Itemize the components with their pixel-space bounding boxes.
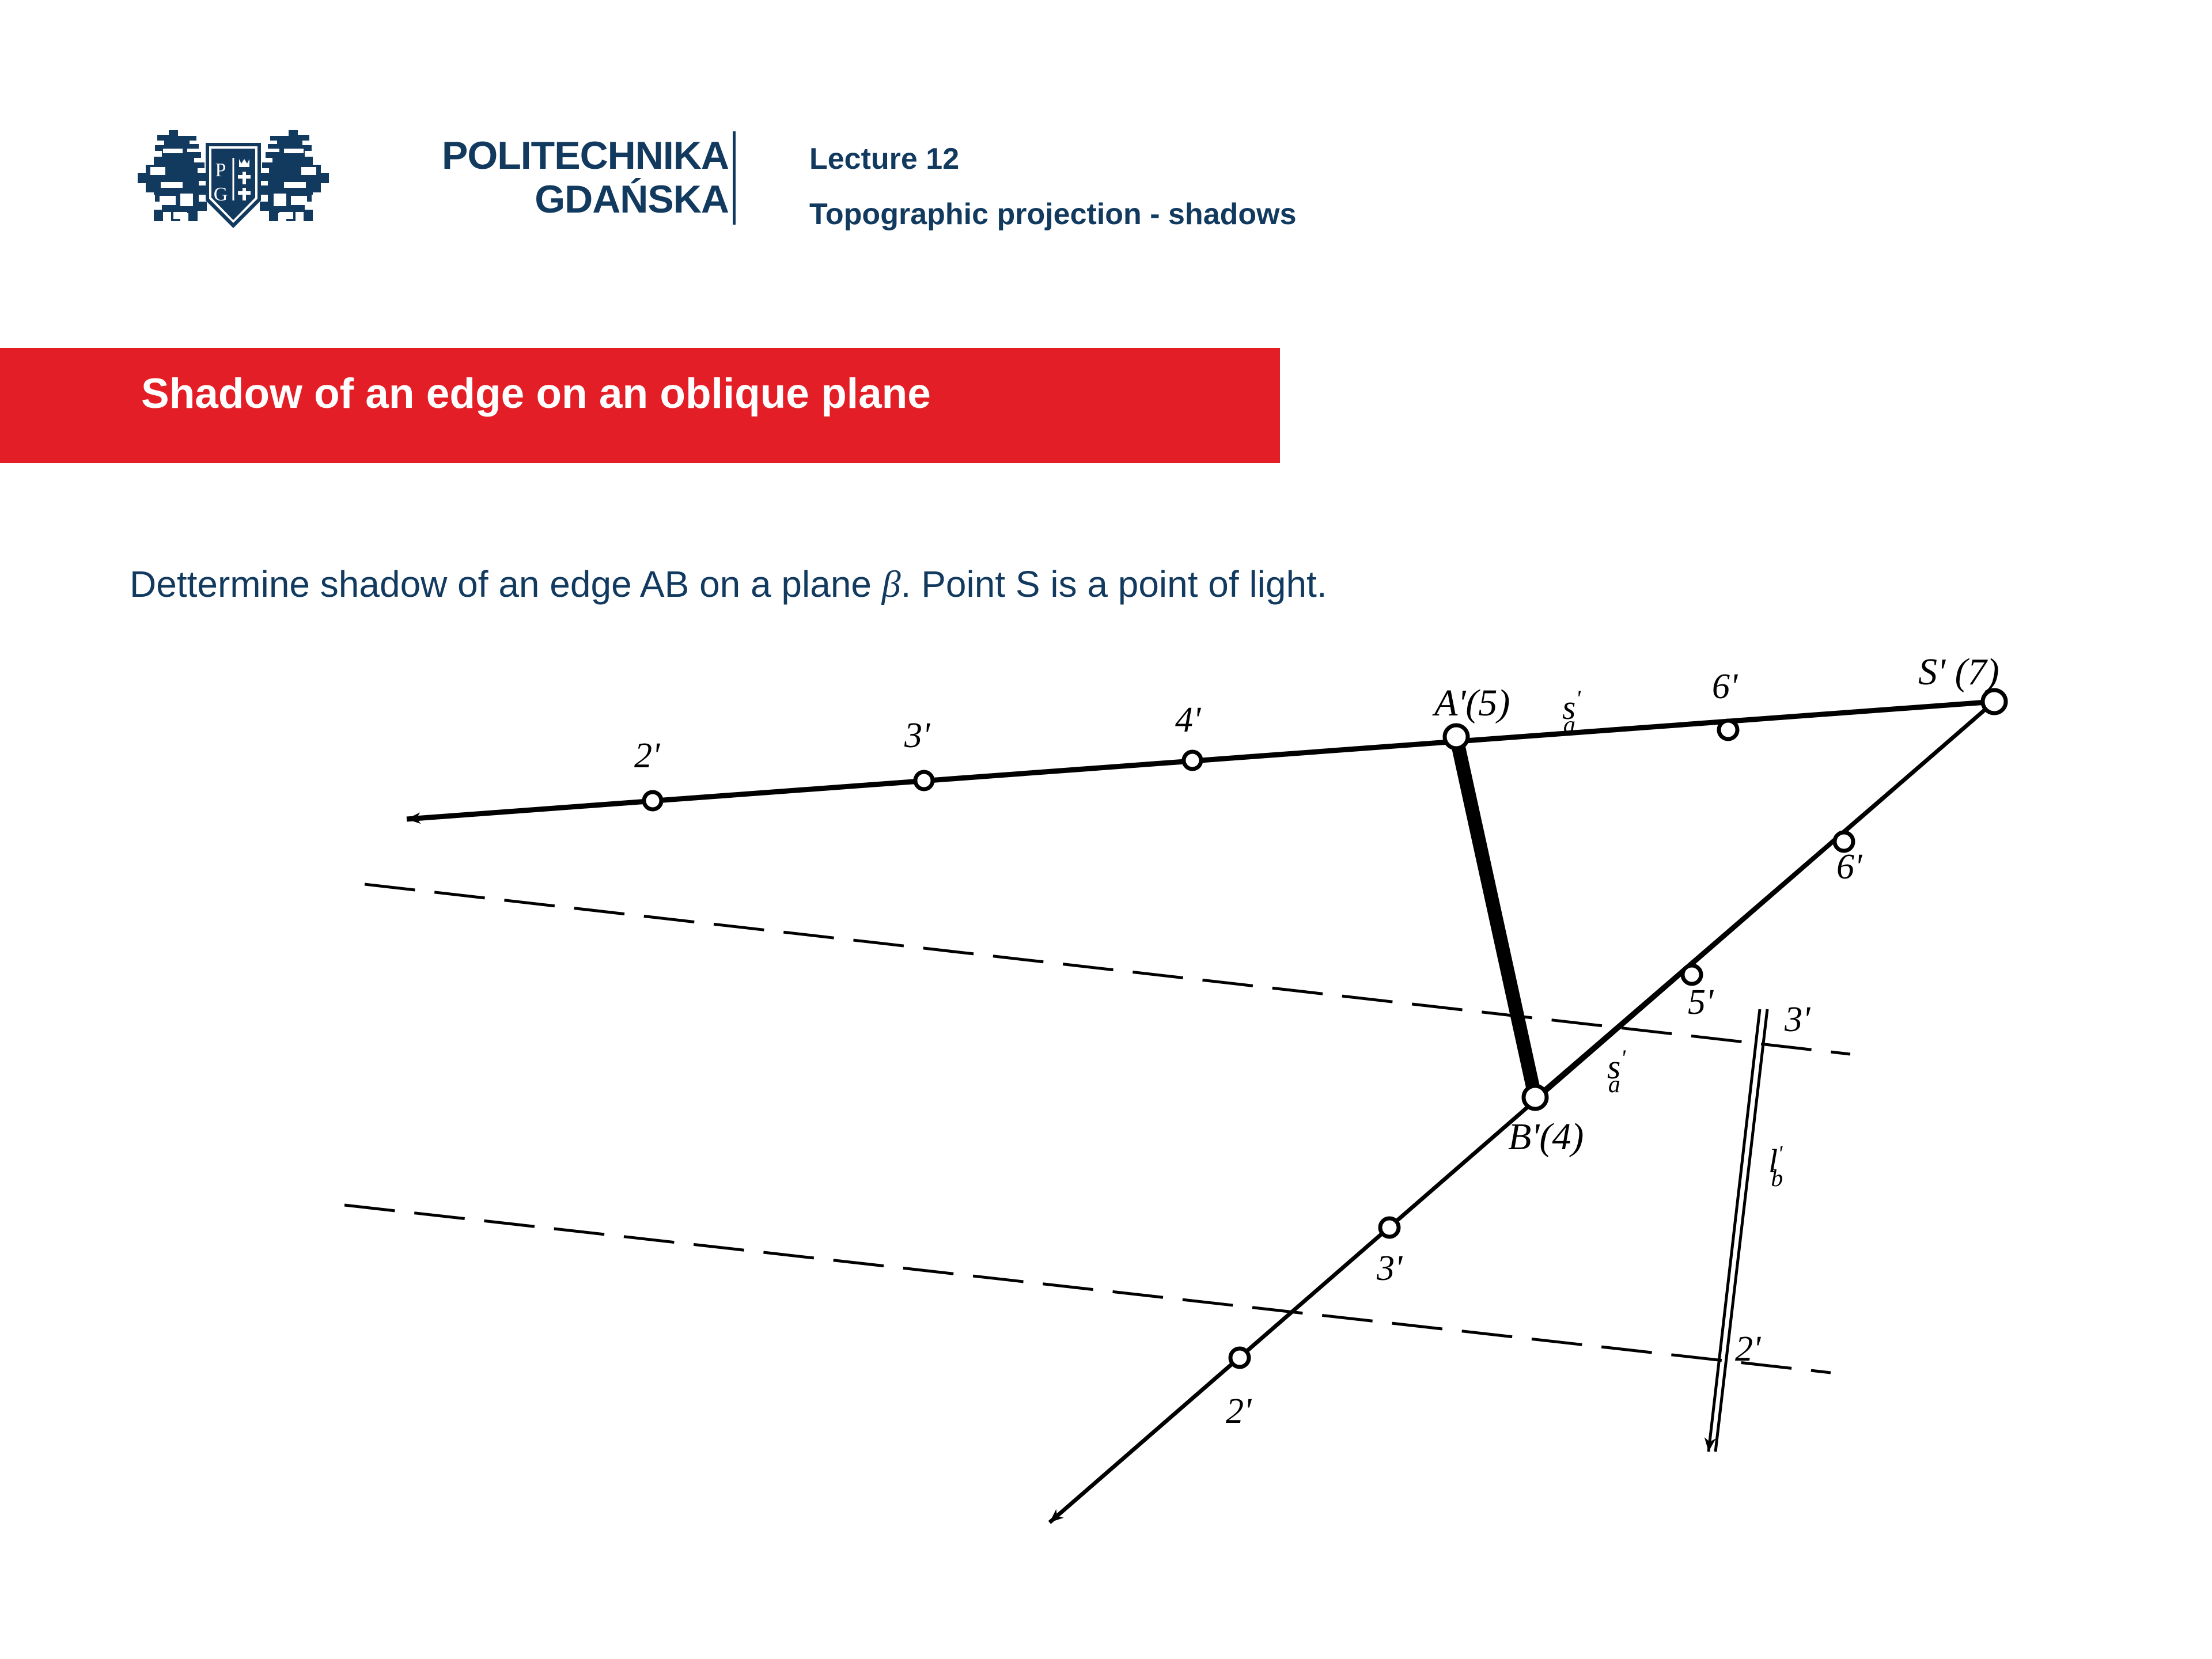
marker-3-prime-horizon	[915, 772, 933, 789]
label-point-b: B'(4)	[1508, 1116, 1584, 1158]
label-point-a: A'(5)	[1432, 682, 1510, 724]
marker-6-prime-horizon	[1719, 721, 1737, 739]
marker-4-prime-horizon	[1184, 752, 1201, 769]
marker-point-b	[1524, 1086, 1547, 1109]
marker-2-prime-diagonal	[1230, 1349, 1249, 1367]
label-2-prime-horizon: 2'	[634, 736, 661, 775]
dashed-level-line-lower	[344, 1205, 1831, 1373]
edge-ab-thick	[1456, 737, 1535, 1097]
topographic-projection-drawing: 2' 3' 4' A'(5) s'a 6' S' (7) 6' 5' 3' s'…	[0, 0, 2212, 1659]
label-2-prime-diagonal: 2'	[1226, 1392, 1252, 1431]
marker-3-prime-diagonal	[1380, 1218, 1399, 1237]
label-3-prime-diagonal: 3'	[1376, 1249, 1403, 1288]
label-4-prime-horizon: 4'	[1175, 700, 1202, 740]
label-6-prime-horizon: 6'	[1712, 667, 1738, 706]
marker-2-prime-horizon	[644, 792, 661, 809]
label-point-s: S' (7)	[1918, 651, 1999, 693]
label-lb: l'b	[1768, 1142, 1783, 1192]
line-lb-stroke-2	[1709, 1009, 1760, 1452]
marker-5-prime-diagonal	[1683, 965, 1701, 984]
label-6-prime-diagonal: 6'	[1836, 847, 1863, 887]
label-sa-lower: s'a	[1607, 1045, 1626, 1098]
line-lb-stroke-1	[1715, 1009, 1767, 1452]
marker-point-s	[1983, 690, 2006, 713]
label-3-prime-horizon: 3'	[904, 716, 931, 755]
label-3-prime-lb: 3'	[1784, 1000, 1811, 1039]
marker-point-a	[1445, 725, 1468, 748]
label-2-prime-lb: 2'	[1735, 1330, 1762, 1369]
dashed-level-line-upper	[365, 884, 1850, 1054]
label-5-prime-diagonal: 5'	[1688, 983, 1714, 1022]
